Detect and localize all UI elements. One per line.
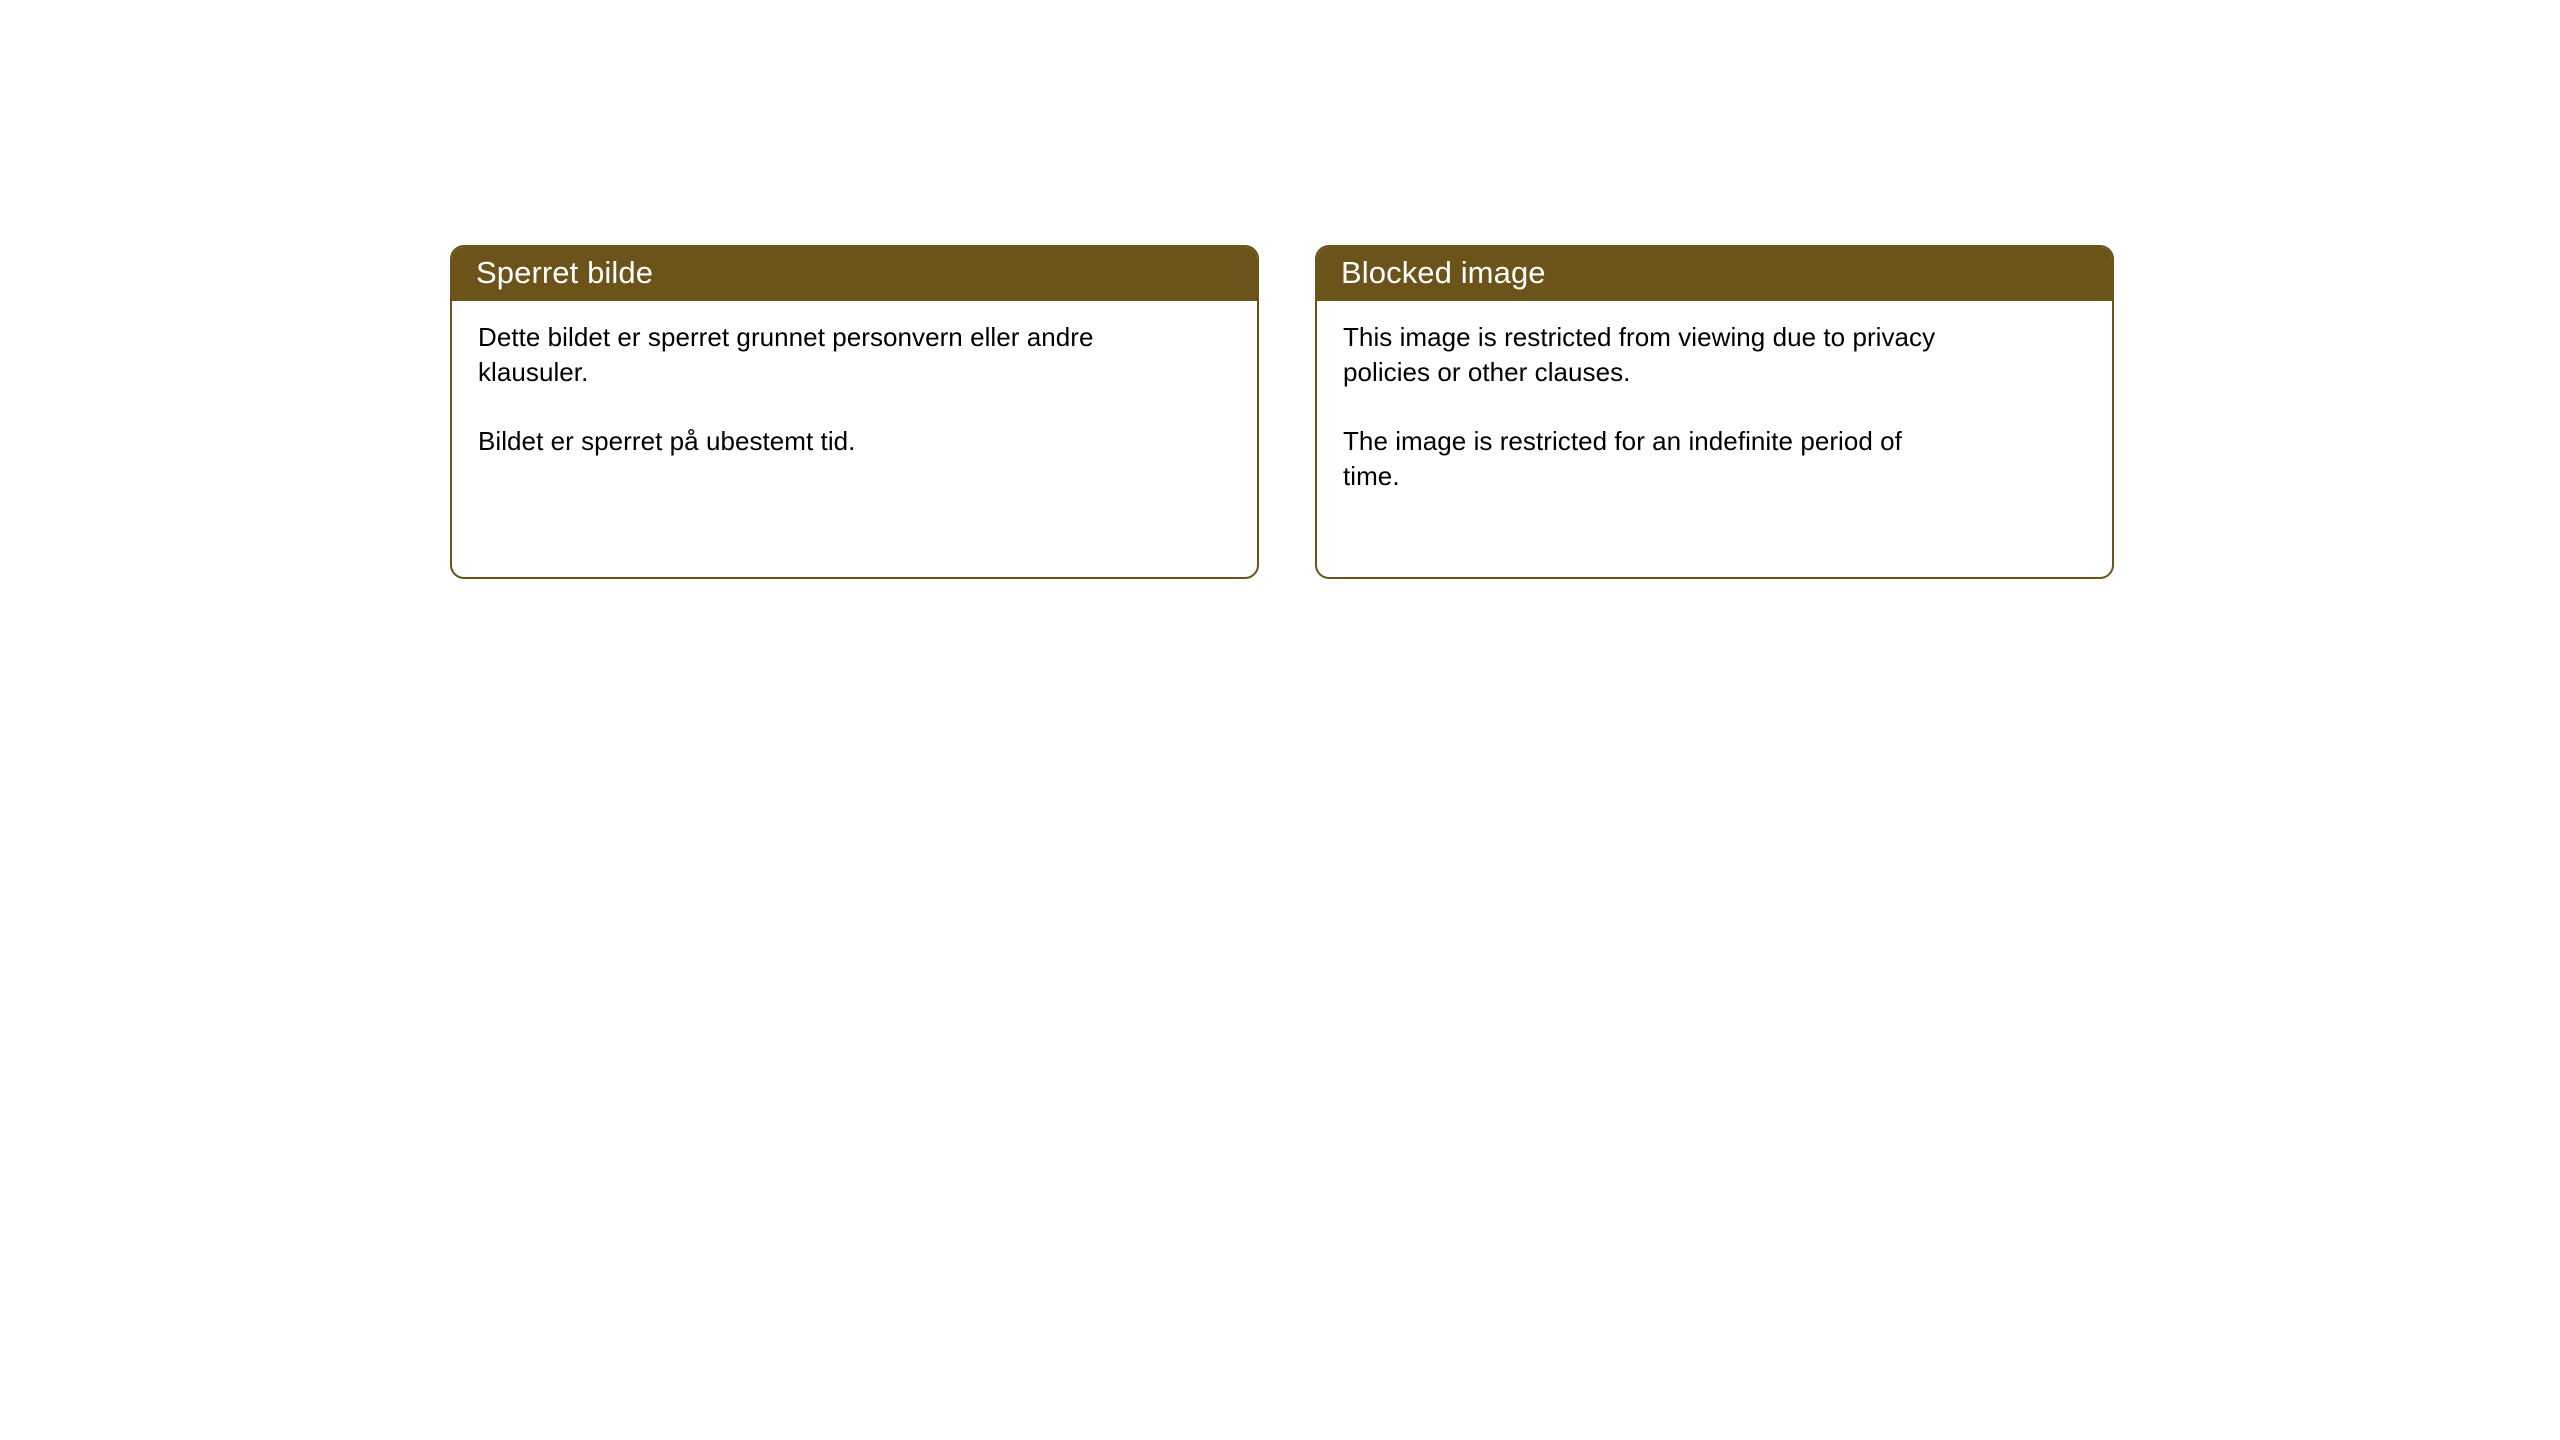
card-body-norwegian: Dette bildet er sperret grunnet personve…: [452, 301, 1257, 577]
blocked-image-card-english: Blocked image This image is restricted f…: [1315, 245, 2114, 579]
blocked-image-card-norwegian: Sperret bilde Dette bildet er sperret gr…: [450, 245, 1259, 579]
card-paragraph-primary-english: This image is restricted from viewing du…: [1343, 320, 1963, 390]
card-header-english: Blocked image: [1315, 245, 2114, 301]
card-paragraph-secondary-english: The image is restricted for an indefinit…: [1343, 424, 1963, 494]
paragraph-spacer-english: [1343, 390, 2086, 424]
card-header-norwegian: Sperret bilde: [450, 245, 1259, 301]
card-title-english: Blocked image: [1315, 256, 1546, 290]
paragraph-spacer-norwegian: [478, 390, 1231, 424]
card-paragraph-primary-norwegian: Dette bildet er sperret grunnet personve…: [478, 320, 1118, 390]
card-body-english: This image is restricted from viewing du…: [1317, 301, 2112, 577]
page-root: Sperret bilde Dette bildet er sperret gr…: [0, 0, 2560, 1440]
card-title-norwegian: Sperret bilde: [450, 256, 653, 290]
card-paragraph-secondary-norwegian: Bildet er sperret på ubestemt tid.: [478, 424, 1118, 459]
